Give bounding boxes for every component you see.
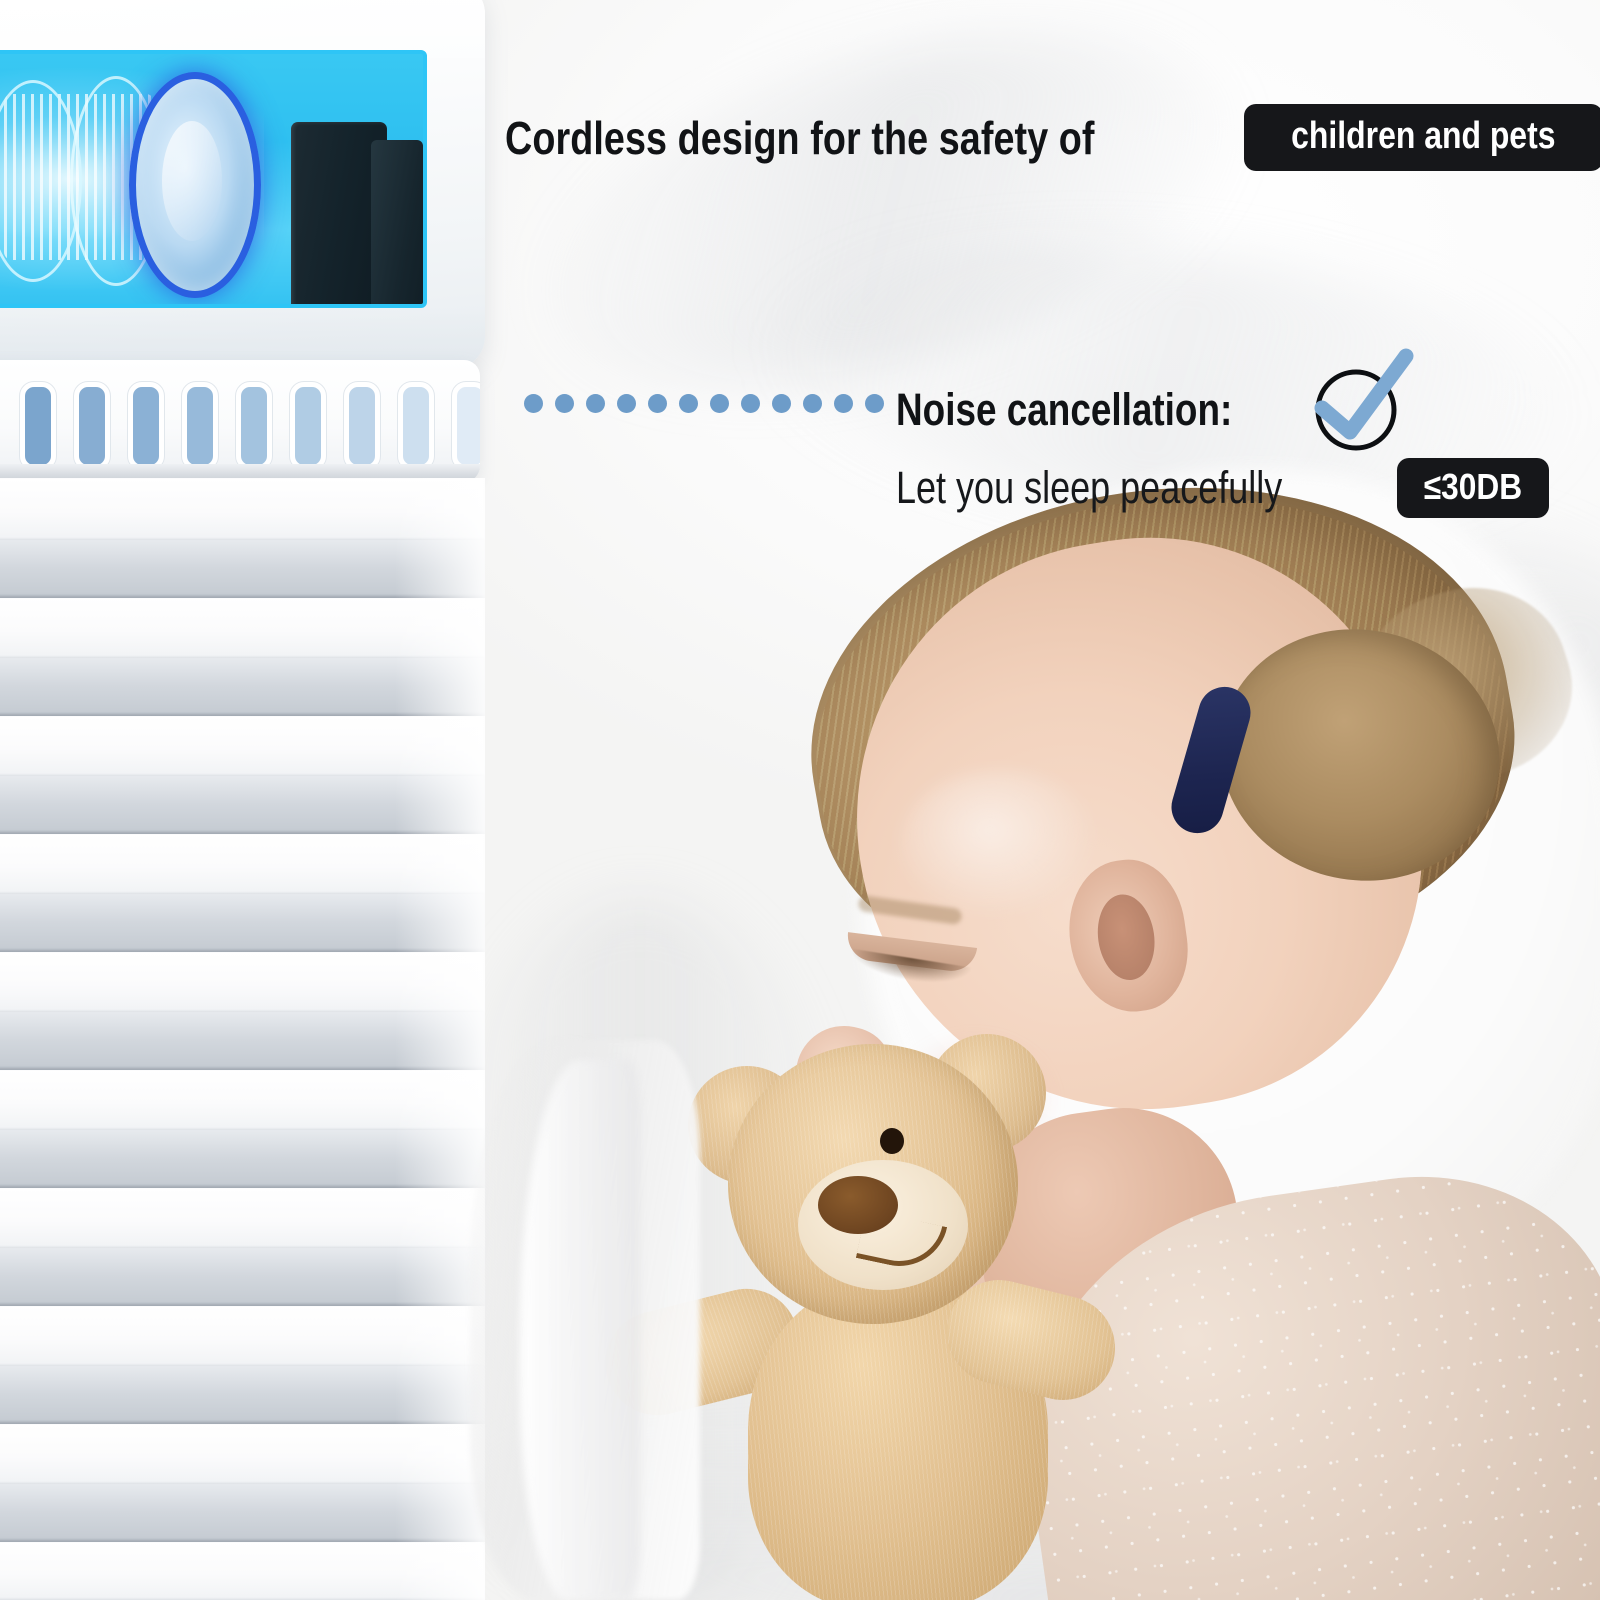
vent-slot-7 bbox=[344, 382, 380, 470]
feature-title: Noise cancellation: bbox=[896, 384, 1232, 436]
leader-dot bbox=[772, 394, 791, 413]
vent-slot-1 bbox=[20, 382, 56, 470]
feature-subtitle: Let you sleep peacefully bbox=[896, 462, 1282, 514]
feature-title-row: Noise cancellation: bbox=[896, 372, 1398, 448]
product-feature-banner: Cordless design for the safety of childr… bbox=[0, 0, 1600, 1600]
cellular-blind-stack bbox=[0, 478, 485, 1600]
vent-slot-3 bbox=[128, 382, 164, 470]
device-vent-bar bbox=[0, 360, 480, 482]
device-motor-cutaway bbox=[0, 0, 485, 370]
vent-slot-4 bbox=[182, 382, 218, 470]
leader-dot bbox=[555, 394, 574, 413]
duvet-fold bbox=[520, 1060, 640, 1600]
battery-module-secondary bbox=[371, 140, 423, 308]
decibel-badge-label: ≤30DB bbox=[1424, 466, 1522, 508]
bear-eye bbox=[880, 1128, 904, 1154]
vent-slot-9 bbox=[452, 382, 480, 470]
headline-badge-label: children and pets bbox=[1291, 115, 1555, 158]
leader-dot bbox=[741, 394, 760, 413]
feature-subtitle-row: Let you sleep peacefully ≤30DB bbox=[896, 458, 1549, 518]
leader-dot bbox=[679, 394, 698, 413]
check-circle-icon bbox=[1310, 360, 1398, 448]
vent-slot-8 bbox=[398, 382, 434, 470]
vent-slot-2 bbox=[74, 382, 110, 470]
headline-text: Cordless design for the safety of bbox=[505, 111, 1095, 165]
leader-dot bbox=[834, 394, 853, 413]
decibel-badge: ≤30DB bbox=[1397, 458, 1549, 518]
headline-row: Cordless design for the safety of childr… bbox=[505, 104, 1600, 171]
leader-dot bbox=[524, 394, 543, 413]
vent-slot-5 bbox=[236, 382, 272, 470]
motor-rotor bbox=[129, 72, 261, 298]
leader-dot bbox=[710, 394, 729, 413]
dotted-leader bbox=[524, 394, 884, 413]
leader-dot bbox=[803, 394, 822, 413]
vent-slot-group bbox=[20, 382, 480, 470]
leader-dot bbox=[617, 394, 636, 413]
skin-highlight bbox=[900, 770, 1100, 920]
headline-badge: children and pets bbox=[1244, 104, 1600, 171]
leader-dot bbox=[586, 394, 605, 413]
vent-slot-6 bbox=[290, 382, 326, 470]
sleeping-child-photo bbox=[600, 470, 1600, 1600]
cutaway-window bbox=[0, 50, 427, 308]
leader-dot bbox=[865, 394, 884, 413]
leader-dot bbox=[648, 394, 667, 413]
